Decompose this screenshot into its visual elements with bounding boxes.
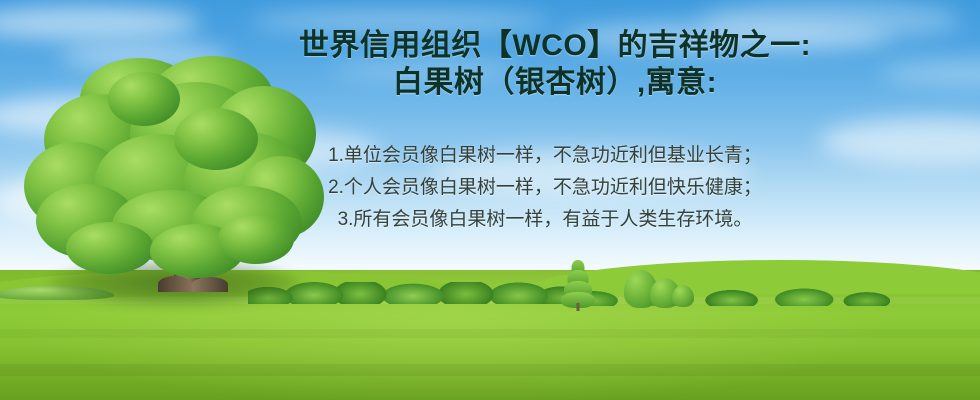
mow-band [0,364,980,376]
mow-band [0,329,980,338]
hedgerow-far [560,288,890,306]
list-item: 1.单位会员像白果树一样，不急功近利但基业长青； [110,140,980,172]
wco-mascot-banner: 世界信用组织【WCO】的吉祥物之一: 白果树（银杏树）,寓意: 1.单位会员像白… [0,0,980,400]
conifer-tree [560,260,596,308]
tree-root [158,276,192,292]
conifer-trunk [577,303,580,311]
tree-root [192,277,228,292]
title-line-2: 白果树（银杏树）,寓意: [0,65,980,102]
meaning-list: 1.单位会员像白果树一样，不急功近利但基业长青； 2.个人会员像白果树一样，不急… [0,140,980,236]
title-line-1: 世界信用组织【WCO】的吉祥物之一: [0,28,980,65]
list-item: 3.所有会员像白果树一样，有益于人类生存环境。 [110,204,980,236]
list-item: 2.个人会员像白果树一样，不急功近利但快乐健康； [110,172,980,204]
page-title: 世界信用组织【WCO】的吉祥物之一: 白果树（银杏树）,寓意: [0,28,980,101]
round-tree [672,285,694,307]
